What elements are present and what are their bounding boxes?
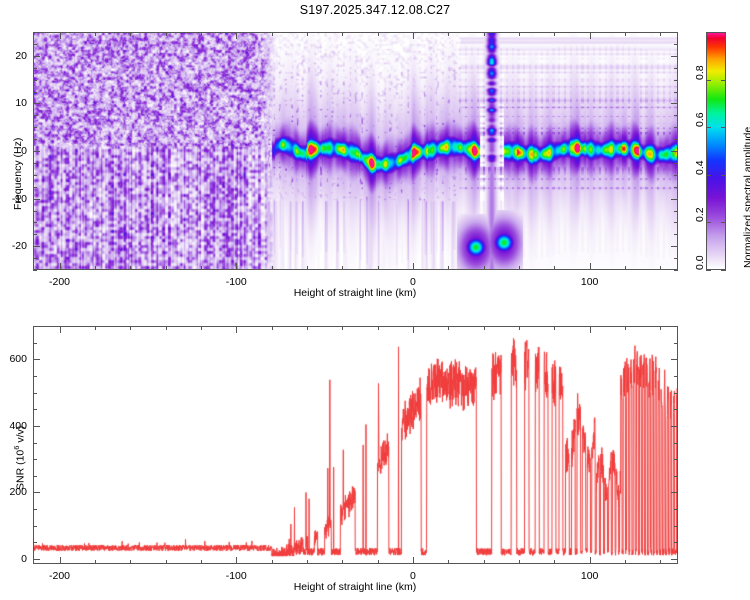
y-minor-tick-right	[674, 139, 678, 140]
colorbar-tick	[706, 80, 711, 81]
x-tick-label: 100	[581, 570, 599, 582]
x-minor-tick-top	[95, 326, 96, 330]
x-minor-tick-top	[272, 326, 273, 330]
y-minor-tick-right	[674, 376, 678, 377]
snr-canvas	[34, 327, 677, 563]
x-major-tick-top	[413, 326, 414, 333]
y-tick-label: -20	[0, 240, 27, 252]
colorbar-label: Normalized spectral amplitude	[742, 127, 750, 268]
x-minor-tick	[342, 266, 343, 270]
y-tick-label: 0	[0, 553, 27, 565]
x-major-tick-top	[590, 32, 591, 39]
colorbar	[706, 32, 726, 270]
x-minor-tick-top	[201, 32, 202, 36]
x-minor-tick-top	[166, 326, 167, 330]
y-minor-tick	[33, 44, 37, 45]
x-minor-tick-top	[625, 326, 626, 330]
snr-exponent: 6	[12, 446, 21, 450]
y-minor-tick	[33, 258, 37, 259]
x-minor-tick	[95, 266, 96, 270]
x-minor-tick-top	[130, 32, 131, 36]
y-minor-tick	[33, 443, 37, 444]
figure-title: S197.2025.347.12.08.C27	[0, 3, 750, 17]
x-major-tick	[413, 557, 414, 564]
y-minor-tick-right	[674, 234, 678, 235]
x-tick-label: -100	[226, 276, 247, 288]
x-minor-tick-top	[519, 32, 520, 36]
x-major-tick-top	[590, 326, 591, 333]
x-minor-tick-top	[272, 32, 273, 36]
snr-y-axis-label: SNR (106 v/v)	[12, 426, 27, 490]
y-minor-tick	[33, 509, 37, 510]
x-major-tick-top	[236, 32, 237, 39]
x-minor-tick-top	[448, 32, 449, 36]
y-minor-tick-right	[674, 326, 678, 327]
y-minor-tick-right	[674, 92, 678, 93]
y-minor-tick	[33, 32, 37, 33]
colorbar-tick-right	[721, 222, 726, 223]
x-tick-label: -200	[49, 276, 70, 288]
y-major-tick-right	[671, 246, 678, 247]
x-major-tick-top	[60, 32, 61, 39]
x-minor-tick-top	[130, 326, 131, 330]
x-minor-tick-top	[625, 32, 626, 36]
y-major-tick	[33, 359, 40, 360]
y-minor-tick	[33, 526, 37, 527]
colorbar-tick	[706, 127, 711, 128]
colorbar-tick	[706, 175, 711, 176]
x-minor-tick	[378, 266, 379, 270]
y-minor-tick	[33, 68, 37, 69]
x-minor-tick	[554, 266, 555, 270]
x-minor-tick-top	[307, 326, 308, 330]
x-minor-tick-top	[660, 32, 661, 36]
x-major-tick	[60, 557, 61, 564]
colorbar-gradient	[707, 33, 725, 269]
x-major-tick-top	[60, 326, 61, 333]
x-minor-tick-top	[660, 326, 661, 330]
figure-root: S197.2025.347.12.08.C27 -200-1000100-20-…	[0, 0, 750, 600]
colorbar-tick-right	[721, 270, 726, 271]
y-major-tick-right	[671, 103, 678, 104]
x-minor-tick	[484, 560, 485, 564]
x-minor-tick	[519, 560, 520, 564]
y-minor-tick-right	[674, 459, 678, 460]
y-major-tick	[33, 56, 40, 57]
y-minor-tick	[33, 326, 37, 327]
y-minor-tick	[33, 343, 37, 344]
x-minor-tick	[95, 560, 96, 564]
x-minor-tick-top	[95, 32, 96, 36]
x-minor-tick	[272, 266, 273, 270]
y-major-tick	[33, 151, 40, 152]
y-minor-tick	[33, 175, 37, 176]
y-minor-tick-right	[674, 343, 678, 344]
x-minor-tick-top	[201, 326, 202, 330]
x-major-tick	[590, 263, 591, 270]
y-major-tick	[33, 103, 40, 104]
y-minor-tick-right	[674, 211, 678, 212]
y-major-tick-right	[671, 426, 678, 427]
x-minor-tick	[660, 560, 661, 564]
y-minor-tick-right	[674, 80, 678, 81]
y-minor-tick-right	[674, 44, 678, 45]
x-minor-tick-top	[484, 32, 485, 36]
y-minor-tick	[33, 376, 37, 377]
x-minor-tick	[201, 560, 202, 564]
y-minor-tick	[33, 80, 37, 81]
y-major-tick	[33, 246, 40, 247]
x-minor-tick	[307, 560, 308, 564]
x-minor-tick	[130, 266, 131, 270]
y-minor-tick-right	[674, 32, 678, 33]
y-minor-tick-right	[674, 526, 678, 527]
x-minor-tick	[201, 266, 202, 270]
x-major-tick	[413, 263, 414, 270]
x-major-tick	[590, 557, 591, 564]
y-tick-label: 10	[0, 97, 27, 109]
x-minor-tick	[130, 560, 131, 564]
y-minor-tick-right	[674, 476, 678, 477]
y-tick-label: 20	[0, 50, 27, 62]
x-minor-tick	[378, 560, 379, 564]
y-major-tick-right	[671, 199, 678, 200]
y-minor-tick-right	[674, 258, 678, 259]
spectrogram-x-axis-label: Height of straight line (km)	[294, 287, 417, 299]
spectrogram-canvas	[34, 33, 677, 269]
y-major-tick-right	[671, 56, 678, 57]
y-minor-tick	[33, 393, 37, 394]
y-minor-tick-right	[674, 409, 678, 410]
y-minor-tick	[33, 115, 37, 116]
y-minor-tick-right	[674, 270, 678, 271]
y-minor-tick-right	[674, 509, 678, 510]
y-major-tick	[33, 492, 40, 493]
spectrogram-y-axis-label: Frequency (Hz)	[12, 138, 24, 210]
y-minor-tick	[33, 163, 37, 164]
x-minor-tick	[519, 266, 520, 270]
y-major-tick-right	[671, 359, 678, 360]
x-minor-tick	[448, 560, 449, 564]
y-major-tick-right	[671, 492, 678, 493]
x-minor-tick-top	[307, 32, 308, 36]
x-minor-tick	[554, 560, 555, 564]
spectrogram-panel	[33, 32, 678, 270]
x-major-tick-top	[236, 326, 237, 333]
y-minor-tick-right	[674, 187, 678, 188]
x-minor-tick	[660, 266, 661, 270]
x-minor-tick-top	[484, 326, 485, 330]
x-minor-tick-top	[448, 326, 449, 330]
colorbar-tick-right	[721, 175, 726, 176]
y-minor-tick-right	[674, 163, 678, 164]
y-minor-tick	[33, 270, 37, 271]
x-tick-label: -100	[226, 570, 247, 582]
x-major-tick	[60, 263, 61, 270]
y-minor-tick	[33, 139, 37, 140]
x-minor-tick	[342, 560, 343, 564]
x-minor-tick	[307, 266, 308, 270]
y-minor-tick-right	[674, 222, 678, 223]
x-minor-tick	[272, 560, 273, 564]
y-minor-tick-right	[674, 115, 678, 116]
y-minor-tick	[33, 92, 37, 93]
x-minor-tick-top	[519, 326, 520, 330]
y-major-tick-right	[671, 559, 678, 560]
x-minor-tick	[166, 560, 167, 564]
x-minor-tick	[448, 266, 449, 270]
snr-x-axis-label: Height of straight line (km)	[294, 581, 417, 593]
y-minor-tick-right	[674, 68, 678, 69]
y-major-tick	[33, 199, 40, 200]
x-tick-label: -200	[49, 570, 70, 582]
y-tick-label: 600	[0, 353, 27, 365]
y-minor-tick-right	[674, 542, 678, 543]
x-minor-tick-top	[554, 32, 555, 36]
y-minor-tick	[33, 222, 37, 223]
x-major-tick	[236, 557, 237, 564]
y-minor-tick	[33, 211, 37, 212]
y-major-tick	[33, 426, 40, 427]
y-minor-tick-right	[674, 443, 678, 444]
y-minor-tick	[33, 127, 37, 128]
colorbar-tick-right	[721, 127, 726, 128]
x-minor-tick	[625, 266, 626, 270]
y-minor-tick	[33, 409, 37, 410]
y-minor-tick-right	[674, 393, 678, 394]
x-minor-tick	[625, 560, 626, 564]
x-minor-tick	[166, 266, 167, 270]
y-minor-tick	[33, 187, 37, 188]
y-minor-tick-right	[674, 127, 678, 128]
y-major-tick-right	[671, 151, 678, 152]
y-major-tick	[33, 559, 40, 560]
colorbar-tick	[706, 270, 711, 271]
x-minor-tick-top	[166, 32, 167, 36]
y-minor-tick	[33, 234, 37, 235]
y-minor-tick-right	[674, 175, 678, 176]
colorbar-tick-right	[721, 80, 726, 81]
colorbar-tick	[706, 222, 711, 223]
x-minor-tick-top	[378, 32, 379, 36]
y-minor-tick	[33, 459, 37, 460]
y-minor-tick	[33, 542, 37, 543]
x-minor-tick-top	[554, 326, 555, 330]
x-major-tick-top	[413, 32, 414, 39]
x-tick-label: 100	[581, 276, 599, 288]
x-major-tick	[236, 263, 237, 270]
x-minor-tick	[484, 266, 485, 270]
x-minor-tick-top	[378, 326, 379, 330]
x-minor-tick-top	[342, 32, 343, 36]
y-minor-tick	[33, 476, 37, 477]
x-minor-tick-top	[342, 326, 343, 330]
snr-panel	[33, 326, 678, 564]
